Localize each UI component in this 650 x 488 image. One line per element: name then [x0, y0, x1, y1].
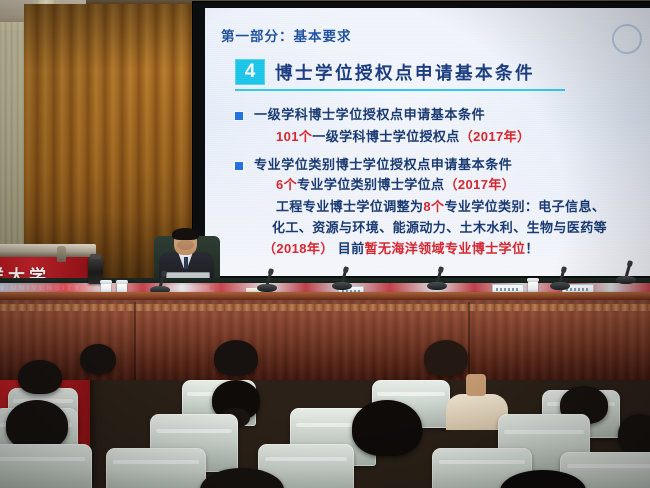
presenter-hair	[172, 228, 199, 240]
bullet-year: （2017年）	[444, 177, 515, 192]
presenter-face-shadow	[177, 240, 194, 250]
audience-head	[80, 344, 116, 374]
bullet-text: 专业学位类别：电子信息、	[444, 199, 605, 214]
bullet-text: ！	[525, 241, 538, 256]
audience-head	[424, 340, 468, 376]
bullet-year: （2018年）	[263, 241, 334, 256]
bullet-count: 101个	[276, 129, 312, 144]
bullet-subline: 化工、资源与环境、能源动力、土木水利、生物与医药等	[272, 219, 650, 238]
audience-head	[6, 400, 68, 450]
lectern-top	[0, 244, 96, 257]
audience-area	[0, 352, 650, 488]
slide-bullet-item: 一级学科博士学位授权点申请基本条件	[235, 107, 650, 123]
bullet-square-icon	[235, 112, 243, 120]
slide-watermark-icon	[612, 24, 642, 54]
slide-title-underline	[235, 89, 565, 91]
bullet-count: 8个	[423, 199, 444, 214]
bullet-text: 一级学科博士学位授权点	[312, 129, 459, 144]
bullet-subline: 101个一级学科博士学位授权点（2017年）	[276, 128, 650, 147]
slide-title-row: 4 博士学位授权点申请基本条件	[235, 59, 535, 85]
bullet-subline: 工程专业博士学位调整为8个专业学位类别：电子信息、	[276, 198, 650, 217]
table-microphone-icon	[614, 262, 638, 284]
bullet-subline: 6个专业学位类别博士学位点（2017年）	[276, 176, 650, 195]
table-microphone-icon	[548, 268, 572, 290]
bullet-text: 专业学位类别博士学位点	[297, 177, 444, 192]
bullet-subline: （2018年） 目前暂无海洋领域专业博士学位！	[263, 240, 650, 259]
bullet-text: 化工、资源与环境、能源动力、土木水利、生物与医药等	[272, 220, 607, 235]
bullet-text: 工程专业博士学位调整为	[276, 199, 423, 214]
bullet-heading: 一级学科博士学位授权点申请基本条件	[254, 107, 485, 123]
table-microphone-icon	[330, 268, 354, 290]
table-microphone-icon	[255, 270, 279, 292]
audience-neck	[466, 374, 486, 396]
bullet-heading: 专业学位类别博士学位授权点申请基本条件	[254, 157, 512, 173]
podium-microphone-icon	[57, 246, 66, 262]
bullet-highlight: 暂无海洋领域专业博士学位	[365, 241, 526, 256]
audience-head	[618, 414, 650, 454]
bullet-text: 目前	[334, 241, 365, 256]
presenter-tie	[184, 257, 188, 269]
slide-bullet-item: 专业学位类别博士学位授权点申请基本条件	[235, 157, 650, 173]
slide-section-label: 第一部分：基本要求	[221, 25, 352, 45]
bullet-year: （2017年）	[460, 129, 531, 144]
bullet-square-icon	[235, 162, 243, 170]
audience-seat	[0, 444, 92, 488]
audience-head	[352, 400, 422, 456]
table-microphone-icon	[425, 268, 449, 290]
table-microphone-icon	[148, 272, 172, 294]
slide-number-badge: 4	[235, 59, 265, 85]
audience-head	[18, 360, 62, 394]
table-decorative-trim	[0, 304, 650, 311]
audience-seat	[106, 448, 206, 488]
bullet-count: 6个	[276, 177, 297, 192]
auditorium-photo: 第一部分：基本要求 4 博士学位授权点申请基本条件 一级学科博士学位授权点申请基…	[0, 0, 650, 488]
audience-head	[214, 340, 258, 376]
slide-title: 博士学位授权点申请基本条件	[275, 60, 535, 85]
projection-screen: 第一部分：基本要求 4 博士学位授权点申请基本条件 一级学科博士学位授权点申请基…	[205, 8, 650, 276]
slide-bullet-list: 一级学科博士学位授权点申请基本条件 101个一级学科博士学位授权点（2017年）…	[235, 100, 650, 259]
